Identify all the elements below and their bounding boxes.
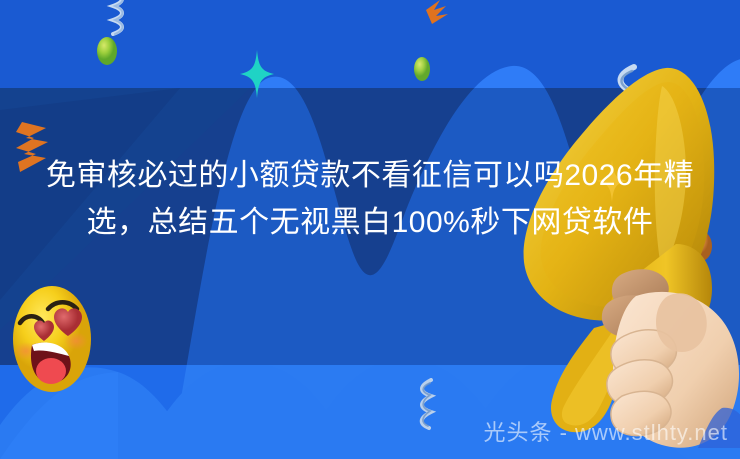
page-title: 免审核必过的小额贷款不看征信可以吗2026年精选，总结五个无视黑白100%秒下网… <box>0 152 740 246</box>
confetti-ball-green-small-icon <box>412 56 432 82</box>
confetti-ball-green-icon <box>95 36 119 66</box>
emoji-heart-eyes-icon <box>10 283 94 395</box>
megaphone-illustration <box>516 48 740 448</box>
spiral-ribbon-silver-top-icon <box>105 0 139 36</box>
streamer-orange-top-right-icon <box>420 0 456 32</box>
watermark-label: 光头条 - www.stlhty.net <box>483 415 728 447</box>
spiral-ribbon-silver-bottom-icon <box>415 378 441 432</box>
sparkle-cyan-icon <box>240 50 274 98</box>
poster-canvas: 免审核必过的小额贷款不看征信可以吗2026年精选，总结五个无视黑白100%秒下网… <box>0 0 740 459</box>
